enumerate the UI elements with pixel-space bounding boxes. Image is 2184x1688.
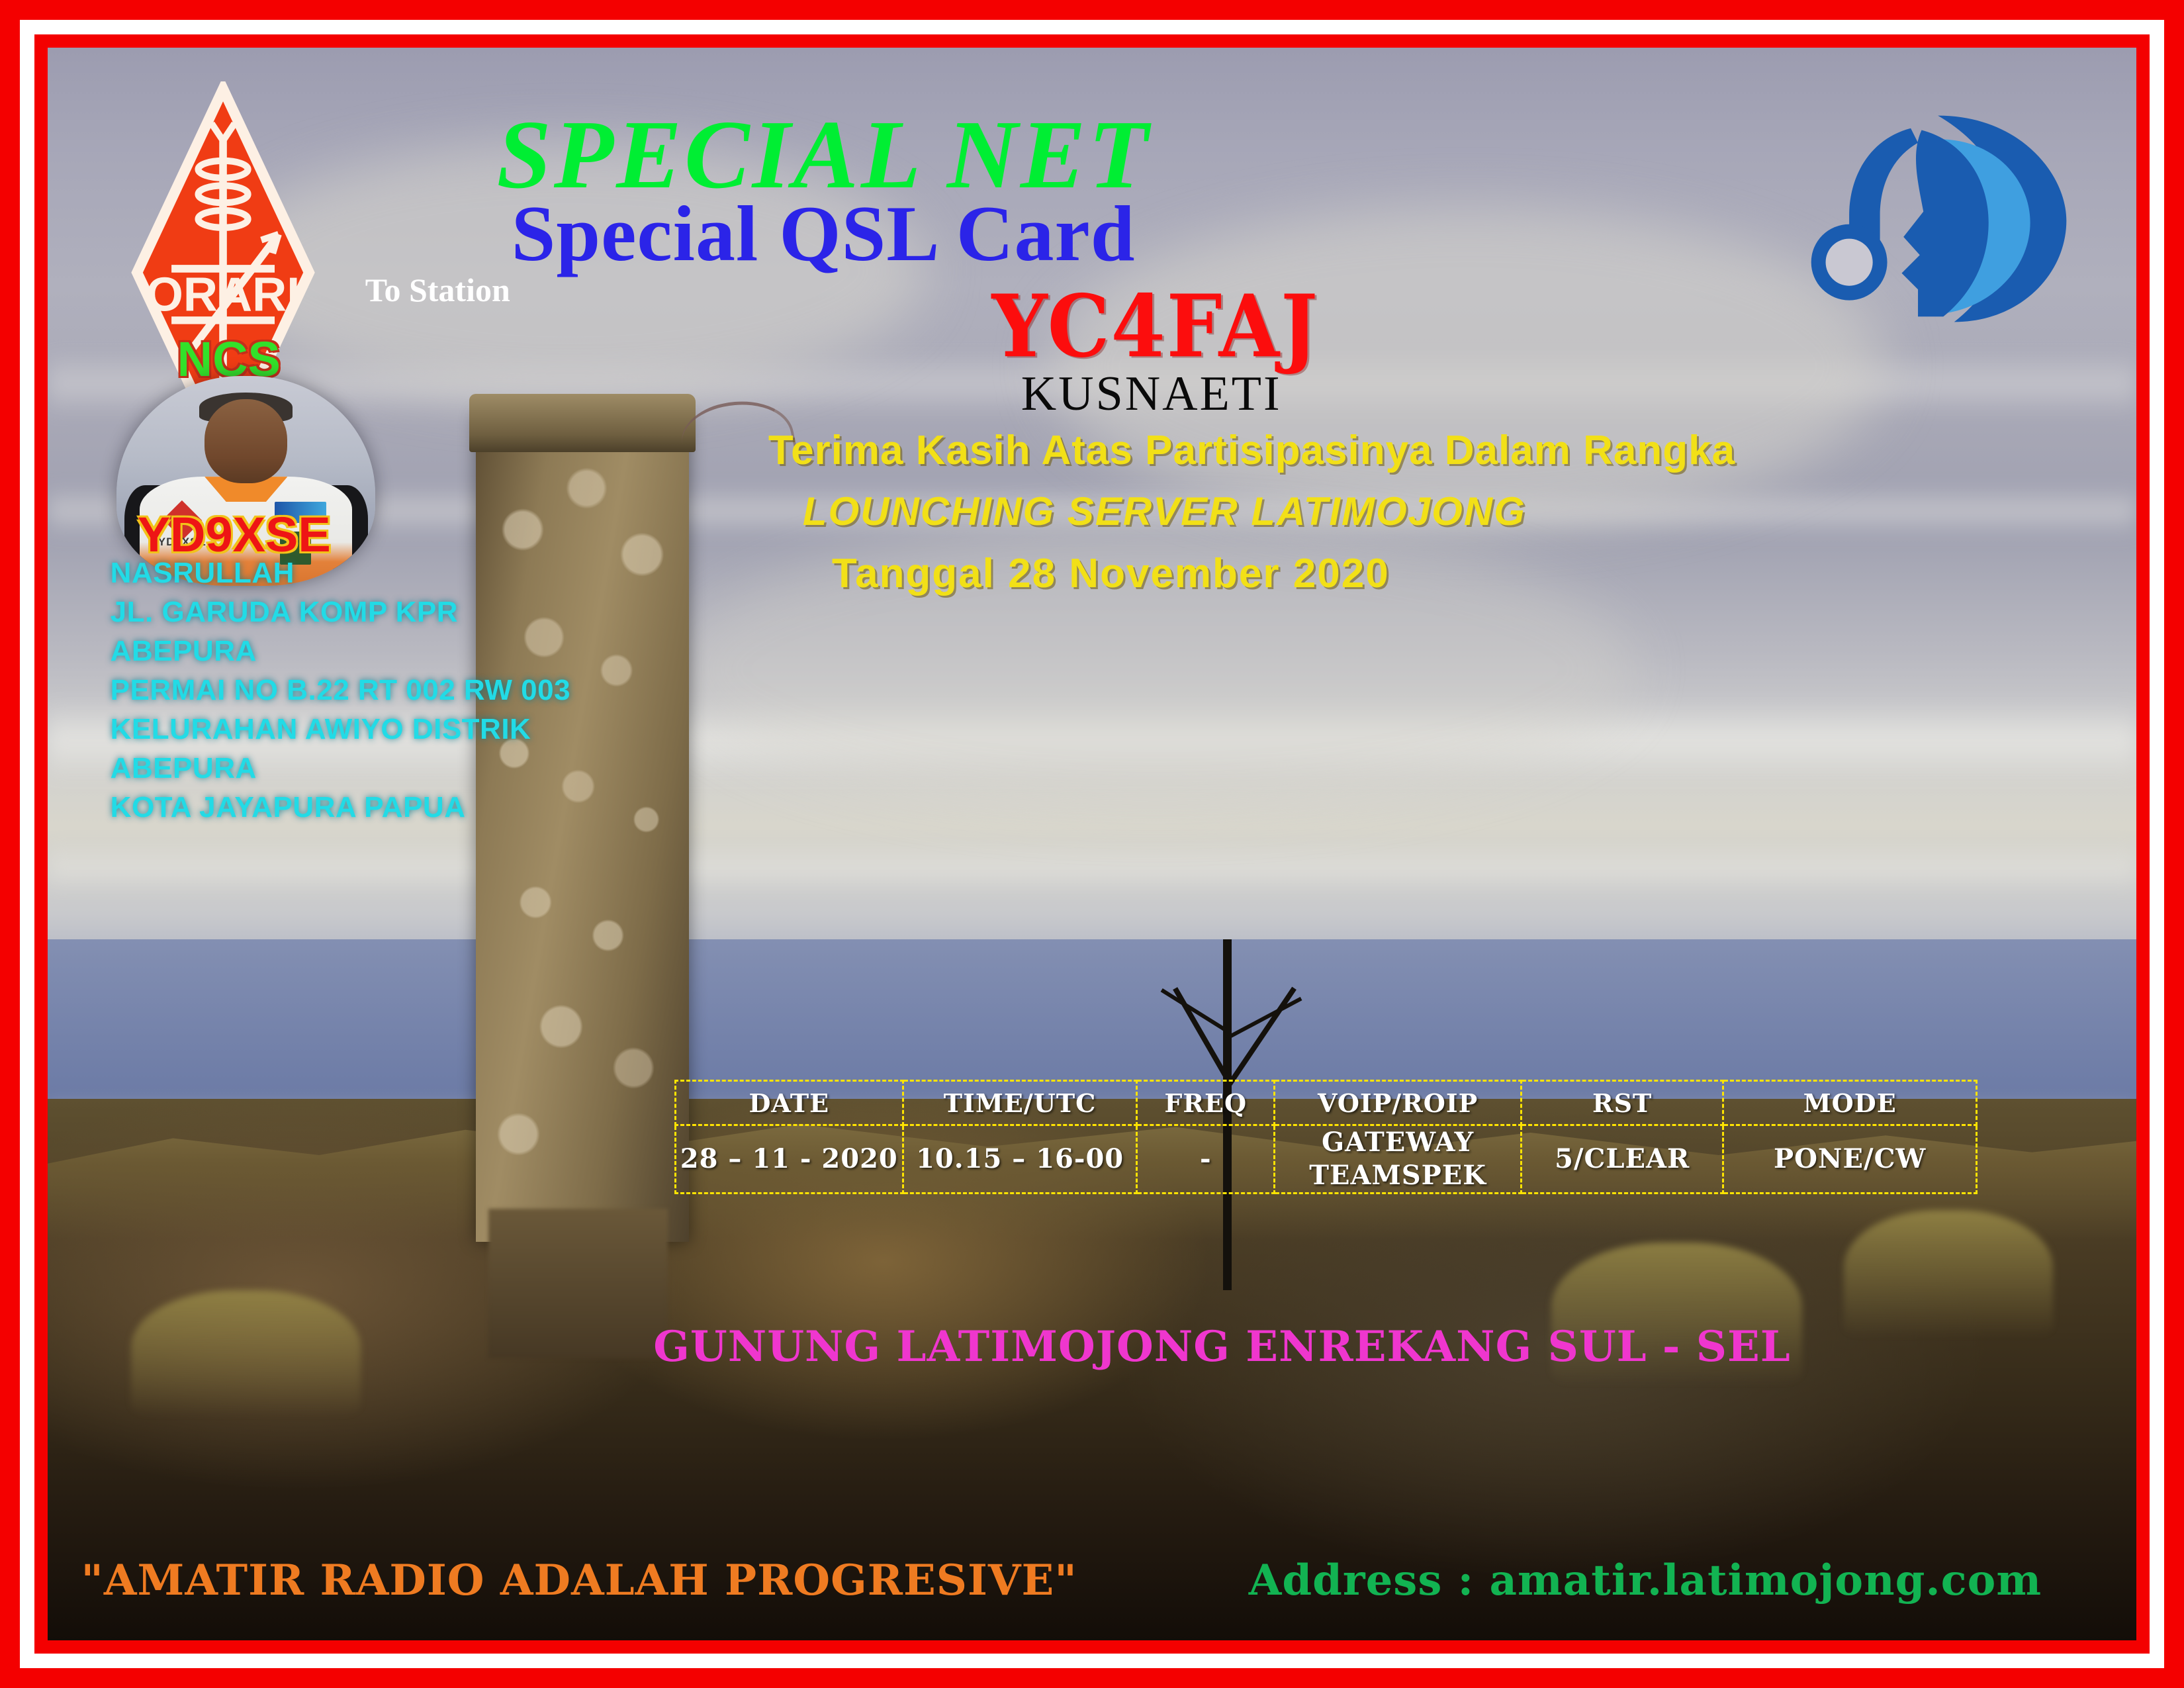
- stone-cairn-monument: [476, 414, 689, 1242]
- cell-freq: -: [1137, 1125, 1275, 1194]
- column-header-rst: RST: [1522, 1081, 1723, 1125]
- cairn-cap: [469, 394, 695, 452]
- qsl-card-background-photo: ORARI SPECIAL NET Special QSL Card To St…: [48, 48, 2136, 1640]
- footer-motto: "AMATIR RADIO ADALAH PROGRESIVE": [81, 1556, 1077, 1605]
- qsl-card-inner-border: ORARI SPECIAL NET Special QSL Card To St…: [34, 34, 2150, 1654]
- orari-logo-text: ORARI: [146, 268, 300, 321]
- activation-site-line: GUNUNG LATIMOJONG ENREKANG SUL - SEL: [653, 1322, 1791, 1372]
- cell-voip: GATEWAY TEAMSPEK: [1275, 1125, 1522, 1194]
- address-line: KELURAHAN AWIYO DISTRIK: [111, 710, 570, 749]
- column-header-mode: MODE: [1723, 1081, 1977, 1125]
- page-subtitle-qsl-card: Special QSL Card: [512, 188, 1136, 279]
- qso-log-table: DATE TIME/UTC FREQ VOIP/ROIP RST MODE 28…: [674, 1080, 1978, 1194]
- address-line: PERMAI NO B.22 RT 002 RW 003: [111, 671, 570, 710]
- address-line: ABEPURA: [111, 749, 570, 788]
- sender-address-block: NASRULLAH JL. GARUDA KOMP KPR ABEPURA PE…: [111, 554, 570, 827]
- column-header-time: TIME/UTC: [903, 1081, 1137, 1125]
- avatar-head: [205, 399, 287, 483]
- address-line: NASRULLAH: [111, 554, 570, 593]
- recipient-operator-name: KUSNAETI: [1021, 366, 1282, 422]
- cell-mode: PONE/CW: [1723, 1125, 1977, 1194]
- cloud-streak: [48, 844, 2136, 892]
- table-row: 28 – 11 - 2020 10.15 – 16-00 - GATEWAY T…: [675, 1125, 1976, 1194]
- qsl-card-outer-border: ORARI SPECIAL NET Special QSL Card To St…: [0, 0, 2184, 1688]
- cell-rst: 5/CLEAR: [1522, 1125, 1723, 1194]
- address-line: JL. GARUDA KOMP KPR: [111, 593, 570, 632]
- tree-branch: [1226, 986, 1297, 1088]
- cell-date: 28 – 11 - 2020: [675, 1125, 903, 1194]
- grass-tuft: [1844, 1210, 2053, 1337]
- thank-you-block: Terima Kasih Atas Partisipasinya Dalam R…: [768, 427, 2064, 597]
- recipient-callsign: YC4FAJ: [992, 275, 1319, 377]
- footer-web-address: Address : amatir.latimojong.com: [1249, 1556, 2042, 1605]
- to-station-label: To Station: [365, 271, 510, 309]
- thanks-line-2-event: LOUNCHING SERVER LATIMOJONG: [803, 489, 2064, 534]
- address-line: KOTA JAYAPURA PAPUA: [111, 788, 570, 827]
- address-line: ABEPURA: [111, 632, 570, 671]
- headset-profile-logo: [1802, 79, 2073, 358]
- column-header-date: DATE: [675, 1081, 903, 1125]
- column-header-freq: FREQ: [1137, 1081, 1275, 1125]
- thanks-line-1: Terima Kasih Atas Partisipasinya Dalam R…: [768, 427, 2064, 474]
- cell-time: 10.15 – 16-00: [903, 1125, 1137, 1194]
- column-header-voip: VOIP/ROIP: [1275, 1081, 1522, 1125]
- grass-tuft: [131, 1290, 361, 1417]
- thanks-line-3-date: Tanggal 28 November 2020: [832, 550, 2064, 597]
- qsl-card-white-gap: ORARI SPECIAL NET Special QSL Card To St…: [20, 20, 2164, 1668]
- table-header-row: DATE TIME/UTC FREQ VOIP/ROIP RST MODE: [675, 1081, 1976, 1125]
- cairn-base: [488, 1209, 667, 1358]
